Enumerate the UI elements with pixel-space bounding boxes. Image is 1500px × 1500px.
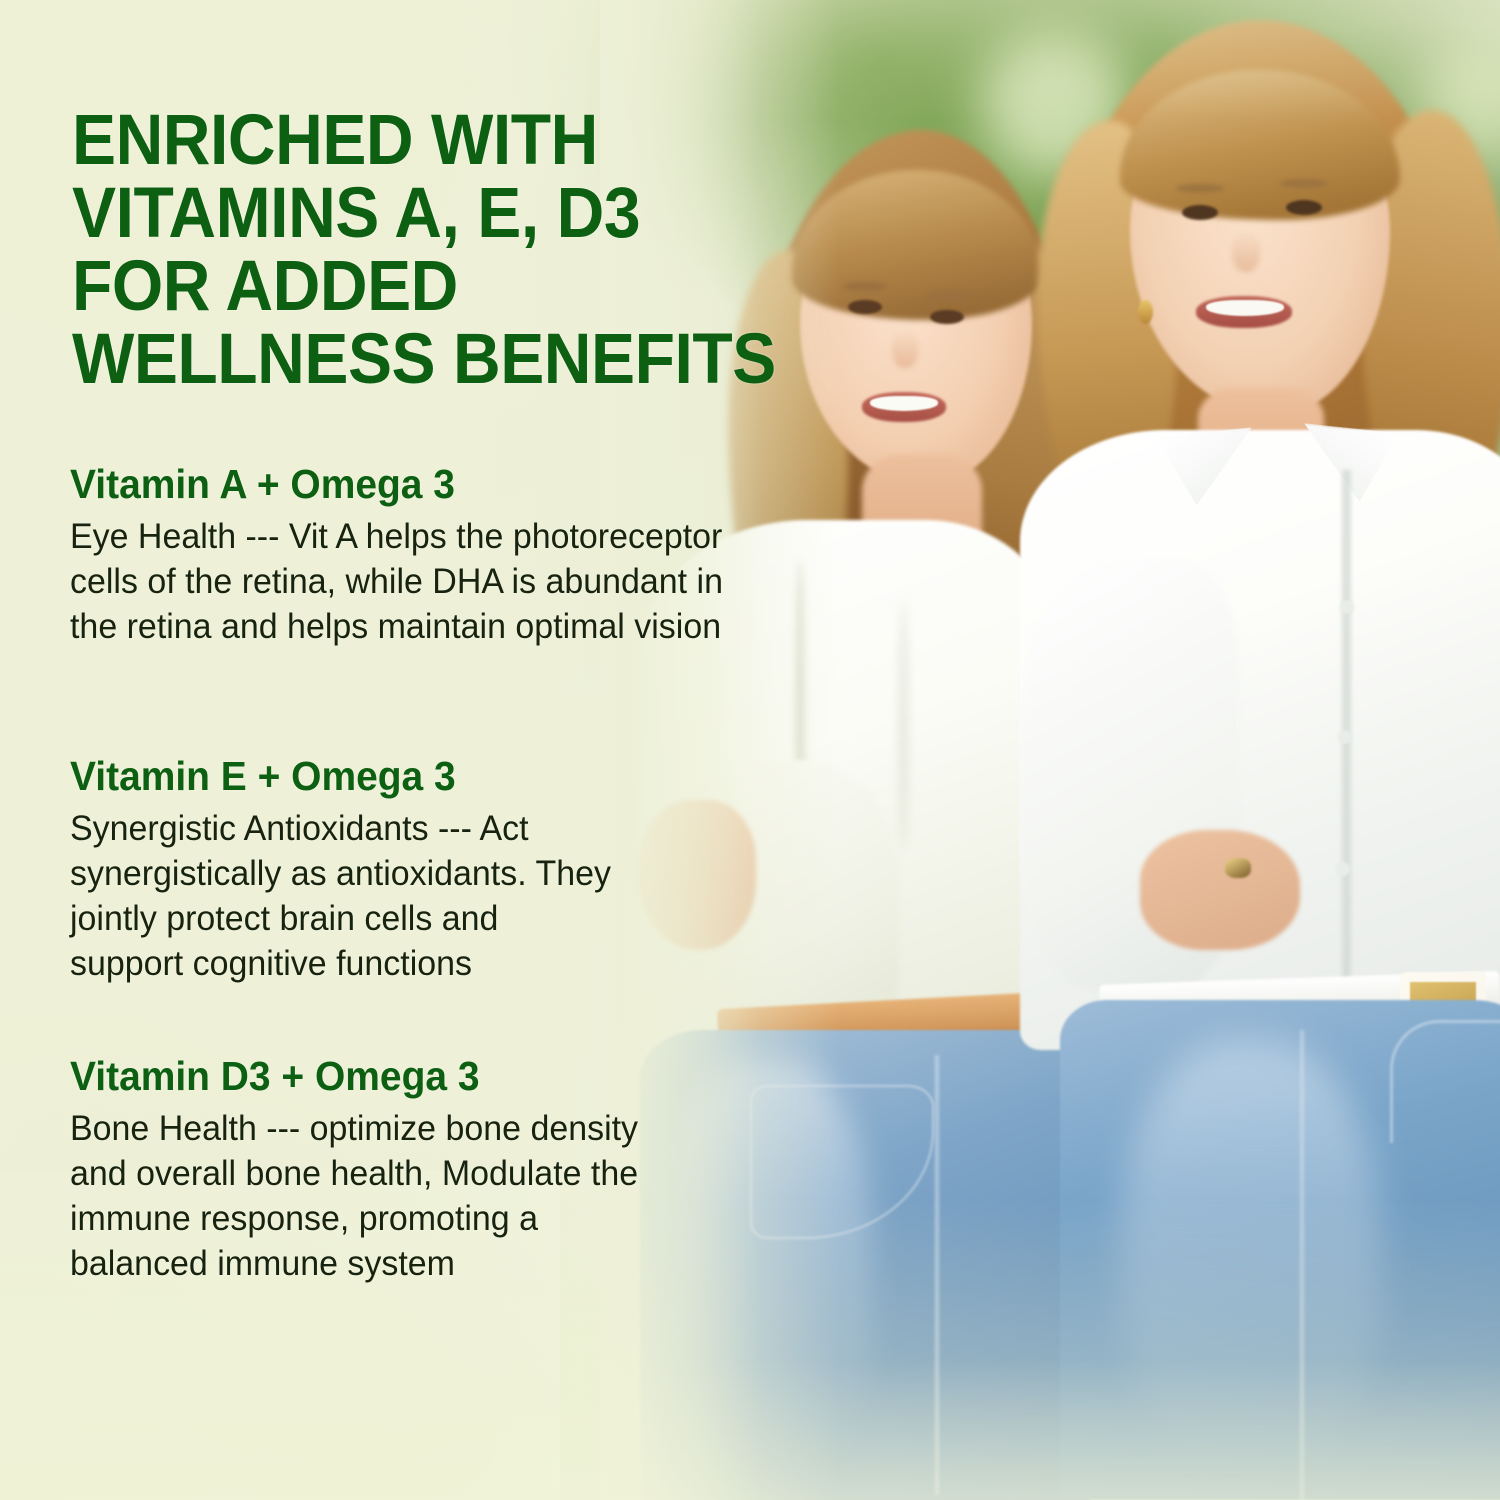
headline: ENRICHED WITH VITAMINS A, E, D3 FOR ADDE… [72,104,807,396]
benefit-body-vitamin-a: Eye Health --- Vit A helps the photorece… [70,514,768,649]
benefit-section-vitamin-e: Vitamin E + Omega 3 Synergistic Antioxid… [70,752,770,986]
benefit-title-vitamin-d3: Vitamin D3 + Omega 3 [70,1052,735,1100]
text-content: ENRICHED WITH VITAMINS A, E, D3 FOR ADDE… [0,0,1500,1500]
ad-banner: ENRICHED WITH VITAMINS A, E, D3 FOR ADDE… [0,0,1500,1500]
benefit-section-vitamin-d3: Vitamin D3 + Omega 3 Bone Health --- opt… [70,1052,770,1286]
benefit-title-vitamin-e: Vitamin E + Omega 3 [70,752,735,800]
benefit-body-vitamin-d3: Bone Health --- optimize bone density an… [70,1106,671,1286]
benefit-body-vitamin-e: Synergistic Antioxidants --- Act synergi… [70,806,613,986]
benefit-title-vitamin-a: Vitamin A + Omega 3 [70,460,735,508]
benefit-section-vitamin-a: Vitamin A + Omega 3 Eye Health --- Vit A… [70,460,770,649]
